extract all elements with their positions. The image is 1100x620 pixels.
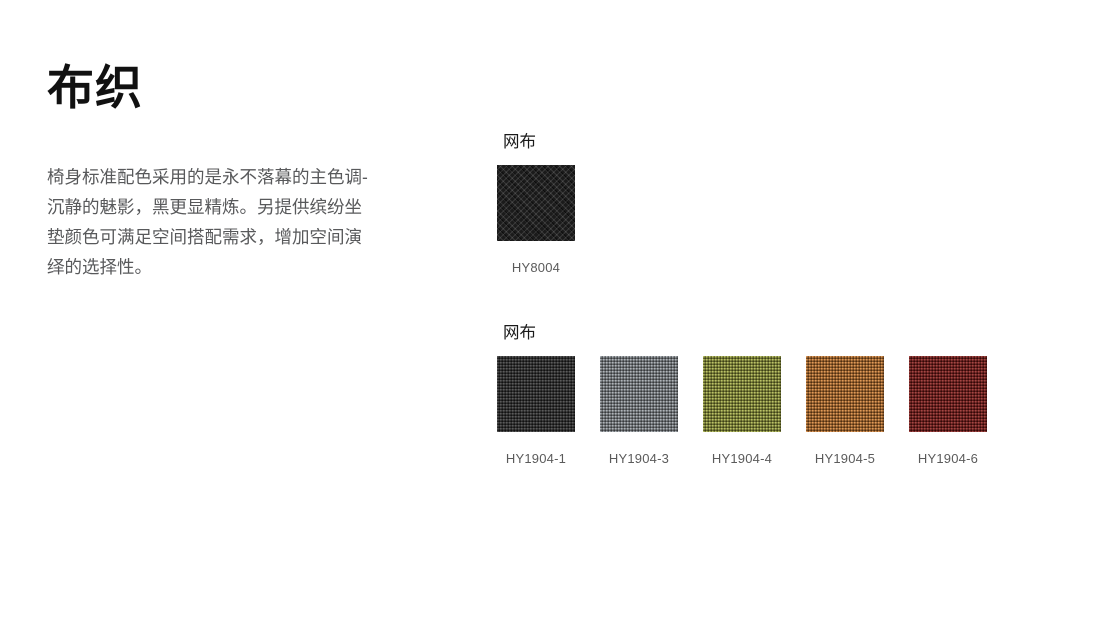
swatch-item-hy1904-6[interactable]: HY1904-6 [909,356,987,466]
fabric-swatch-region: 网布 HY8004 网布 HY1904-1 HY1904-3 HY1904-4 [497,0,1057,620]
swatch-item-hy8004[interactable]: HY8004 [497,165,575,275]
swatch-label: HY1904-4 [712,451,772,466]
fabric-swatch-chip[interactable] [497,356,575,432]
fabric-swatch-chip[interactable] [497,165,575,241]
fabric-swatch-chip[interactable] [806,356,884,432]
page-title: 布织 [47,62,407,114]
swatch-group-mesh-primary: 网布 HY8004 [497,133,575,275]
swatch-label: HY1904-6 [918,451,978,466]
swatch-label: HY1904-5 [815,451,875,466]
swatch-label: HY1904-3 [609,451,669,466]
page-description: 椅身标准配色采用的是永不落幕的主色调-沉静的魅影，黑更显精炼。另提供缤纷坐垫颜色… [47,162,377,282]
swatch-item-hy1904-3[interactable]: HY1904-3 [600,356,678,466]
swatch-label: HY1904-1 [506,451,566,466]
swatch-label: HY8004 [512,260,560,275]
group-heading: 网布 [503,324,987,344]
swatch-item-hy1904-5[interactable]: HY1904-5 [806,356,884,466]
intro-text-column: 布织 椅身标准配色采用的是永不落幕的主色调-沉静的魅影，黑更显精炼。另提供缤纷坐… [47,62,407,282]
fabric-swatch-chip[interactable] [909,356,987,432]
fabric-swatch-chip[interactable] [703,356,781,432]
swatch-item-hy1904-4[interactable]: HY1904-4 [703,356,781,466]
swatch-row: HY8004 [497,165,575,275]
fabric-swatch-chip[interactable] [600,356,678,432]
group-heading: 网布 [503,133,575,153]
swatch-row: HY1904-1 HY1904-3 HY1904-4 HY1904-5 HY19… [497,356,987,466]
swatch-group-mesh-colors: 网布 HY1904-1 HY1904-3 HY1904-4 HY1904-5 H… [497,324,987,466]
swatch-item-hy1904-1[interactable]: HY1904-1 [497,356,575,466]
